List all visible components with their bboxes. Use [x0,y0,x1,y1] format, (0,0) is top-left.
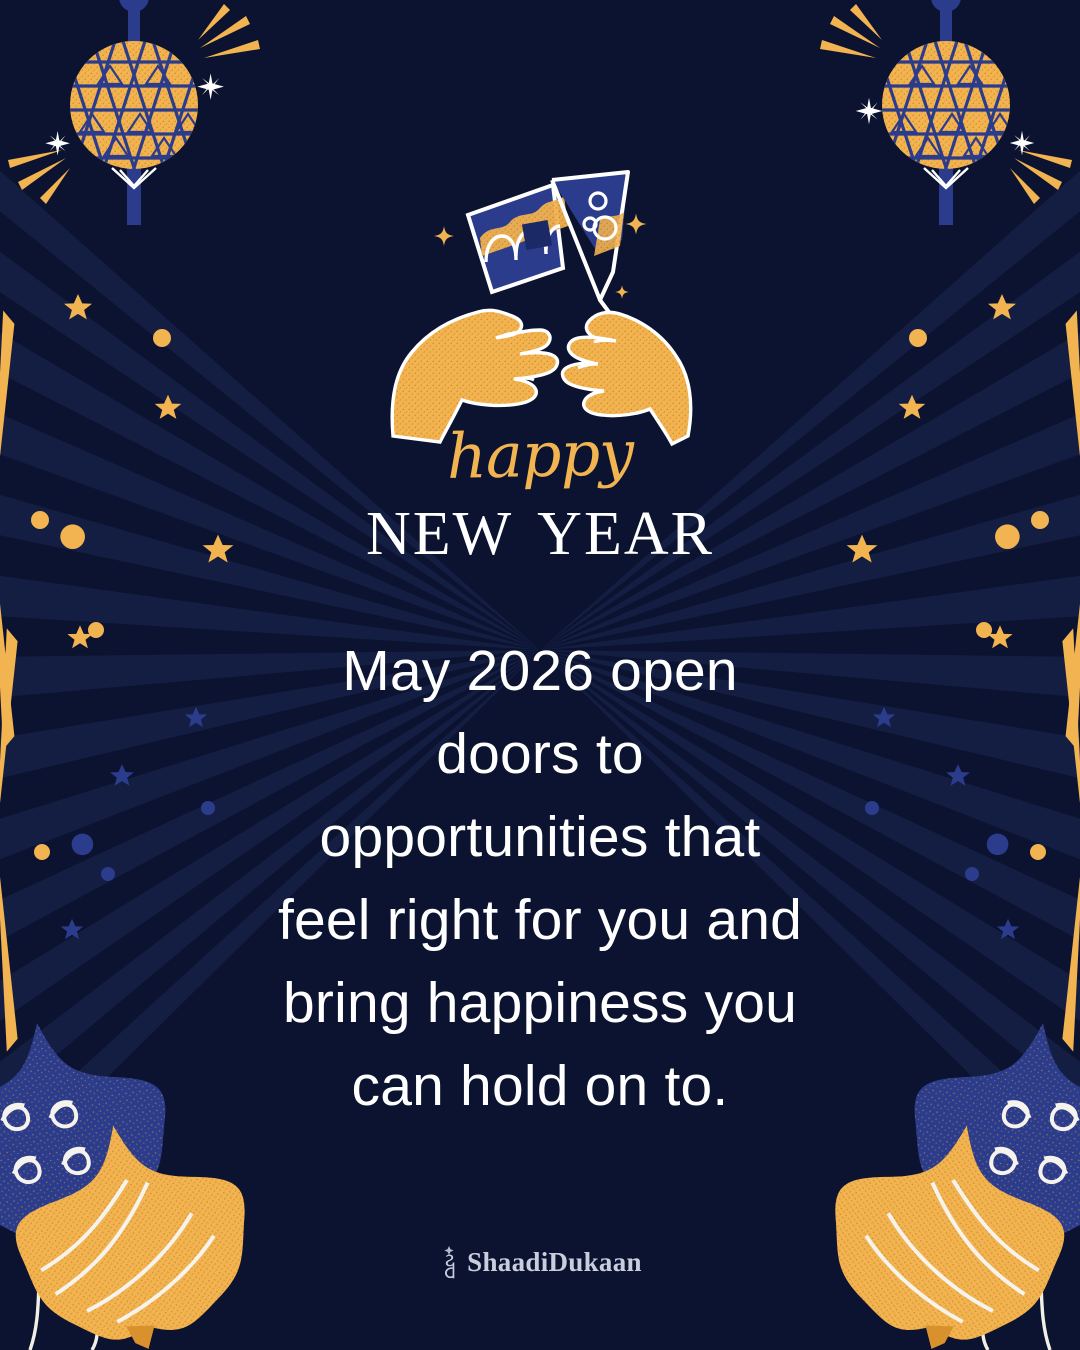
toasting-glasses-illustration [383,172,691,444]
message-line: feel right for you and [0,879,1080,962]
message-line: opportunities that [0,796,1080,879]
message-line: bring happiness you [0,962,1080,1045]
message-line: doors to [0,713,1080,796]
message-line: May 2026 open [0,630,1080,713]
shaadidukaan-logo-icon [438,1245,460,1279]
disco-ball-top-right [820,0,1072,225]
brand-name: ShaadiDukaan [467,1247,642,1278]
new-year-greeting-card: happy New Year May 2026 open doors to op… [0,0,1080,1350]
message-line: can hold on to. [0,1045,1080,1128]
greeting-message: May 2026 open doors to opportunities tha… [0,630,1080,1128]
greeting-title: happy New Year [0,424,1080,572]
brand-logo: ShaadiDukaan [0,1245,1080,1279]
disco-ball-top-left [8,0,260,225]
